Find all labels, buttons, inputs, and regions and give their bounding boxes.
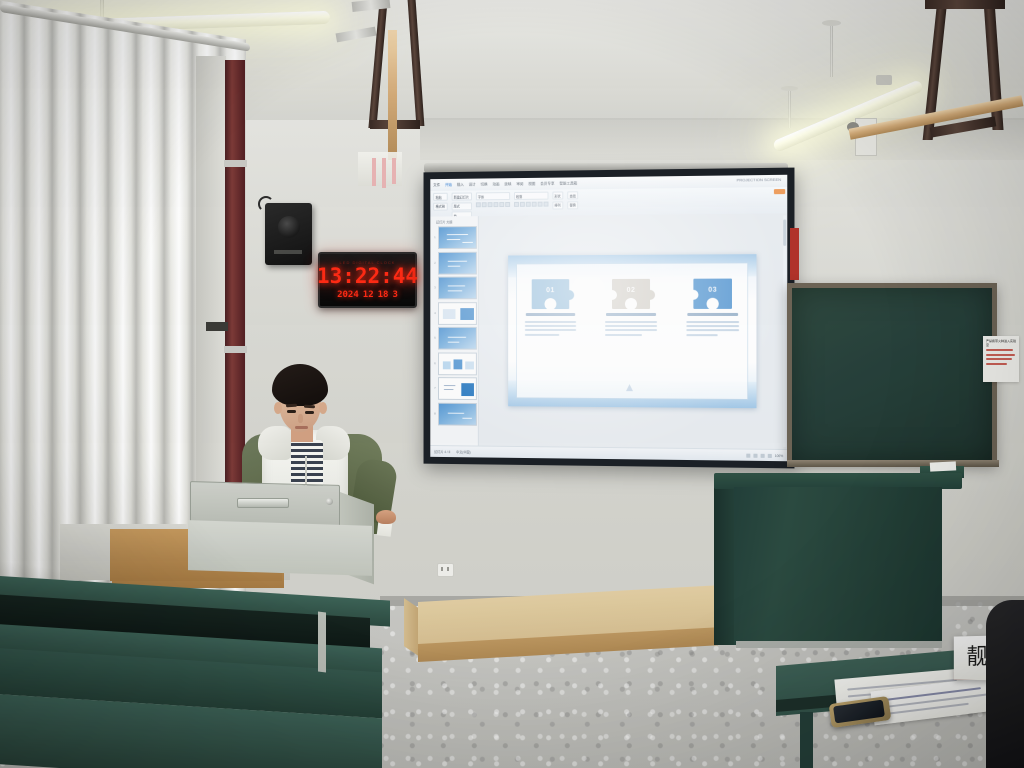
strikethrough-icon[interactable] — [493, 202, 498, 207]
clock-time-display: 13:22:44 — [317, 266, 418, 287]
speaker-cable — [258, 196, 274, 212]
status-view-icons[interactable]: 100% — [746, 453, 783, 457]
puzzle-number-3: 03 — [693, 287, 732, 294]
ribbon-font-icons[interactable] — [475, 201, 509, 206]
thumbnail-number: 2 — [434, 260, 436, 264]
puzzle-heading-3 — [687, 313, 738, 316]
ribbon-tab-0[interactable]: 文件 — [433, 182, 440, 187]
ear-left — [274, 402, 282, 414]
thumbnail-number: 3 — [434, 285, 436, 289]
name-card-character: 靓 — [967, 647, 988, 669]
slide-thumbnail-4[interactable]: 4 — [438, 302, 477, 325]
mouth — [295, 426, 308, 429]
hood-left — [258, 426, 292, 460]
console-knob[interactable] — [326, 498, 333, 505]
puzzle-item-3: 03 — [681, 279, 744, 336]
light-fitting-clamp — [876, 75, 892, 85]
light-suspension-rod — [830, 22, 833, 77]
eye-left — [287, 410, 296, 413]
thumbnail-number: 7 — [434, 386, 436, 390]
font-color-icon[interactable] — [499, 202, 504, 207]
slide-thumbnail-1[interactable]: 1 — [438, 226, 477, 249]
desk-leg — [800, 712, 813, 768]
wall-bracket[interactable] — [206, 322, 228, 331]
zoom-level[interactable]: 100% — [775, 453, 783, 457]
highlight-icon[interactable] — [505, 201, 510, 206]
close-icon[interactable] — [774, 189, 785, 194]
reading-view-icon[interactable] — [760, 453, 764, 457]
light-rod-cap — [822, 20, 841, 26]
slide-thumbnail-3[interactable]: 3 — [438, 276, 477, 299]
clock-date-display: 2024 12 18 3 — [337, 290, 398, 300]
clock-weekday: 3 — [392, 290, 397, 300]
italic-icon[interactable] — [481, 202, 486, 207]
puzzle-number-1: 01 — [532, 287, 570, 294]
ribbon-tab-2[interactable]: 插入 — [457, 182, 464, 187]
bullet-list-icon[interactable] — [531, 201, 536, 206]
normal-view-icon[interactable] — [746, 453, 750, 457]
slide-scrollbar[interactable] — [783, 215, 786, 447]
right-hand — [376, 510, 396, 524]
align-center-icon[interactable] — [519, 201, 524, 206]
clock-month: 12 — [363, 290, 374, 300]
projector-cable — [382, 158, 386, 188]
current-slide[interactable]: 01 — [508, 254, 756, 408]
thumbnail-number: 8 — [434, 411, 436, 415]
puzzle-piece-2: 02 — [612, 279, 650, 309]
wall-power-outlet[interactable] — [437, 563, 454, 577]
ribbon-tab-5[interactable]: 动画 — [492, 182, 499, 187]
console-handle[interactable] — [237, 498, 289, 508]
thumbnail-number: 4 — [434, 311, 436, 315]
notice-line — [986, 349, 1013, 351]
ribbon-button-paste[interactable]: 粘贴 — [433, 193, 447, 201]
slide-thumbnail-8[interactable]: 8 — [438, 402, 477, 425]
clock-day: 18 — [378, 290, 389, 300]
thumbnail-number: 1 — [434, 235, 436, 239]
slide-canvas-area[interactable]: 01 — [479, 213, 787, 449]
projection-screen: 文件 开始 插入 设计 切换 动画 放映 审阅 视图 会员专享 智能工具箱 粘贴… — [424, 168, 795, 469]
ribbon-tab-9[interactable]: 会员专享 — [540, 181, 554, 186]
puzzle-piece-3: 03 — [693, 279, 732, 309]
thumbnail-number: 6 — [434, 361, 436, 365]
light-suspension-rod — [788, 88, 791, 128]
puzzle-body-2 — [605, 321, 657, 336]
wooden-support-rod — [388, 30, 397, 160]
nose — [298, 414, 303, 423]
classroom-photo: LED DIGITAL CLOCK 13:22:44 2024 12 18 3 … — [0, 0, 1024, 768]
puzzle-heading-1 — [526, 313, 575, 316]
teacher-lectern — [734, 487, 942, 645]
wall-notice-sign: 严禁携带火种进入实验室 — [983, 336, 1019, 382]
ribbon-tab-10[interactable]: 智能工具箱 — [559, 181, 577, 186]
control-console-podium — [188, 520, 372, 576]
projector-cable — [392, 158, 396, 184]
projector-cable — [372, 158, 376, 186]
underline-icon[interactable] — [487, 202, 492, 207]
notice-line — [986, 363, 1007, 365]
wall-red-strip — [790, 228, 799, 280]
status-language: 中文(中国) — [456, 449, 470, 454]
ribbon-tab-4[interactable]: 切换 — [481, 182, 488, 187]
slide-thumbnail-pane[interactable]: 幻灯片 大纲 1 2 3 4 — [430, 216, 479, 445]
ear-right — [319, 402, 327, 414]
ribbon-tab-6[interactable]: 放映 — [504, 182, 511, 187]
align-right-icon[interactable] — [525, 201, 530, 206]
numbered-list-icon[interactable] — [537, 201, 542, 206]
lectern-base — [736, 641, 942, 648]
ribbon-button-paragraph[interactable]: 段落 — [514, 192, 548, 200]
screen-surface: 文件 开始 插入 设计 切换 动画 放映 审阅 视图 会员专享 智能工具箱 粘贴… — [430, 175, 787, 461]
puzzle-item-2: 02 — [600, 279, 662, 336]
align-left-icon[interactable] — [514, 201, 519, 206]
eye-right — [305, 411, 314, 414]
slide-thumbnail-5[interactable]: 5 — [438, 327, 477, 350]
sorter-view-icon[interactable] — [753, 453, 757, 457]
ribbon-button-new-slide[interactable]: 新建幻灯片 — [451, 192, 471, 200]
puzzle-number-2: 02 — [612, 287, 650, 294]
puzzle-diagram: 01 — [520, 279, 744, 336]
ribbon-button-find[interactable]: 查找 — [567, 191, 578, 199]
ribbon-button-format-painter[interactable]: 格式刷 — [433, 202, 447, 210]
thumbnail-pane-header: 幻灯片 大纲 — [432, 219, 476, 224]
ribbon-tab-8[interactable]: 视图 — [528, 181, 535, 186]
slide-thumbnail-2[interactable]: 2 — [438, 251, 477, 274]
pipe-band — [224, 160, 247, 167]
pipe-band — [224, 346, 247, 353]
slide-thumbnail-7[interactable]: 7 — [438, 377, 477, 400]
status-slide-count: 幻灯片 4 / 8 — [434, 449, 450, 454]
thumbnail-number: 5 — [434, 336, 436, 340]
ribbon-button-font[interactable]: 字体 — [475, 192, 509, 200]
ribbon-button-replace[interactable]: 替换 — [567, 201, 578, 209]
slideshow-icon[interactable] — [768, 453, 772, 457]
puzzle-piece-1: 01 — [532, 279, 570, 309]
bold-icon[interactable] — [475, 202, 480, 207]
seated-person-shoulder — [986, 600, 1024, 768]
puzzle-body-3 — [686, 321, 739, 336]
ribbon-button-shapes[interactable]: 形状 — [552, 191, 563, 199]
notice-line — [986, 354, 1015, 356]
ribbon-button-arrange[interactable]: 排列 — [552, 201, 563, 209]
lectern-side-face — [714, 480, 736, 645]
desk-side-rail — [318, 611, 326, 672]
notice-line — [986, 358, 1012, 360]
clock-year: 2024 — [337, 290, 359, 300]
led-wall-clock: LED DIGITAL CLOCK 13:22:44 2024 12 18 3 — [318, 252, 417, 308]
ribbon-tab-7[interactable]: 审阅 — [516, 181, 523, 186]
puzzle-heading-2 — [606, 313, 656, 316]
ribbon-paragraph-icons[interactable] — [514, 201, 548, 206]
hair — [272, 364, 328, 406]
puzzle-body-1 — [525, 321, 576, 336]
speaker-brand-label — [274, 250, 302, 254]
lectern-paper — [930, 461, 956, 471]
light-rod-cap — [781, 86, 798, 91]
chalk-tray — [787, 460, 999, 467]
green-chalkboard — [787, 283, 997, 465]
ribbon-tab-1[interactable]: 开始 — [445, 182, 452, 187]
speaker-cone-icon — [278, 216, 300, 238]
screen-brand-logo: PROJECTION SCREEN — [737, 177, 782, 183]
ribbon-button-layout[interactable]: 版式 — [451, 202, 471, 210]
puzzle-item-1: 01 — [520, 279, 581, 335]
notice-title: 严禁携带火种进入实验室 — [986, 339, 1016, 347]
scrollbar-thumb[interactable] — [783, 219, 786, 245]
ribbon-tab-3[interactable]: 设计 — [469, 182, 476, 187]
line-spacing-icon[interactable] — [543, 201, 548, 206]
dark-ceiling-beam — [925, 0, 1005, 9]
slide-thumbnail-6[interactable]: 6 — [438, 352, 477, 375]
